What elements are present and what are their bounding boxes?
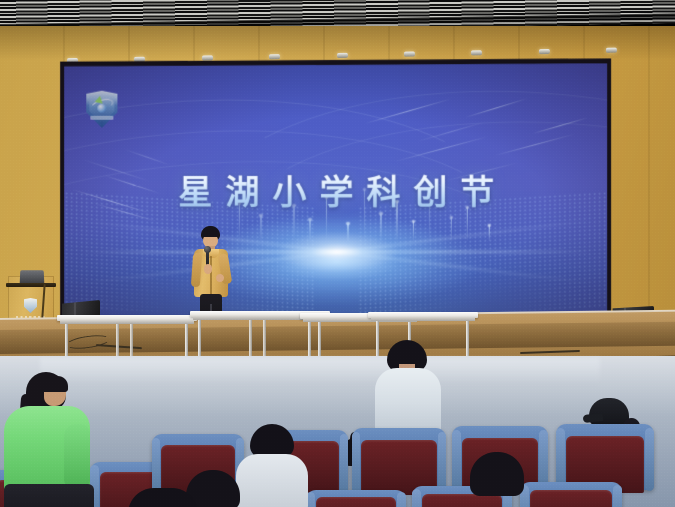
child-bottom-left <box>128 488 198 507</box>
presenter-fringe <box>201 231 220 237</box>
adult-fringe <box>38 376 68 392</box>
seat-arm-left <box>452 430 461 491</box>
seat-arm-left <box>412 489 421 507</box>
seat-row-mid-3 <box>352 428 446 492</box>
seat-row-back-1 <box>306 490 406 507</box>
spotlight-5 <box>336 53 347 58</box>
seat-arm-right <box>340 434 348 494</box>
seat-row-mid-5 <box>556 424 654 490</box>
seat-arm-left <box>352 432 360 493</box>
star-icon <box>95 95 104 104</box>
seat-arm-right <box>645 428 654 491</box>
laptop-icon <box>20 270 45 283</box>
child-right-foreground <box>470 452 526 507</box>
table-apron <box>60 320 194 324</box>
auditorium-photo: 星湖小学科创节 <box>0 0 675 507</box>
adult-in-green-shirt <box>4 372 90 507</box>
adult-arm <box>64 424 90 486</box>
spotlight-7 <box>471 50 482 55</box>
seat-arm-right <box>613 485 622 507</box>
spotlight-4 <box>269 54 280 59</box>
presenter-right-hand <box>216 274 224 282</box>
presenter-jacket-placket <box>210 256 212 296</box>
child-mid-hair <box>250 424 294 458</box>
spotlight-3 <box>202 55 213 60</box>
school-shield-emblem <box>86 91 117 128</box>
led-screen: 星湖小学科创节 <box>64 63 607 319</box>
seat-arm-right <box>397 492 406 507</box>
seat-arm-left <box>152 438 160 496</box>
seat-back-panel <box>530 490 612 507</box>
seat-row-back-3 <box>520 482 622 507</box>
banner-text-icon <box>90 116 113 120</box>
light-streak-group <box>64 63 607 64</box>
equalizer-bar-group <box>64 63 607 64</box>
screen-title: 星湖小学科创节 <box>64 165 607 214</box>
child-right-hair <box>470 452 524 496</box>
spotlight-8 <box>539 49 550 54</box>
spotlight-6 <box>404 51 415 56</box>
seat-arm-right <box>438 432 446 493</box>
seat-back-panel <box>316 497 396 507</box>
light-arc-group <box>64 63 607 64</box>
adult-lower-body <box>4 484 94 507</box>
floor-reflection <box>40 358 600 384</box>
globe-icon <box>97 104 106 113</box>
child-dark-hair <box>236 424 308 507</box>
child-in-white-shirt <box>375 340 441 436</box>
child-bottom-left-hair <box>128 488 198 507</box>
presenter-left-hand <box>204 264 212 274</box>
led-screen-bezel: 星湖小学科创节 <box>60 58 611 324</box>
spotlight-9 <box>606 48 617 53</box>
lectern-shelf <box>6 283 56 287</box>
child-mid-shirt <box>236 454 308 507</box>
table-apron <box>371 317 475 321</box>
